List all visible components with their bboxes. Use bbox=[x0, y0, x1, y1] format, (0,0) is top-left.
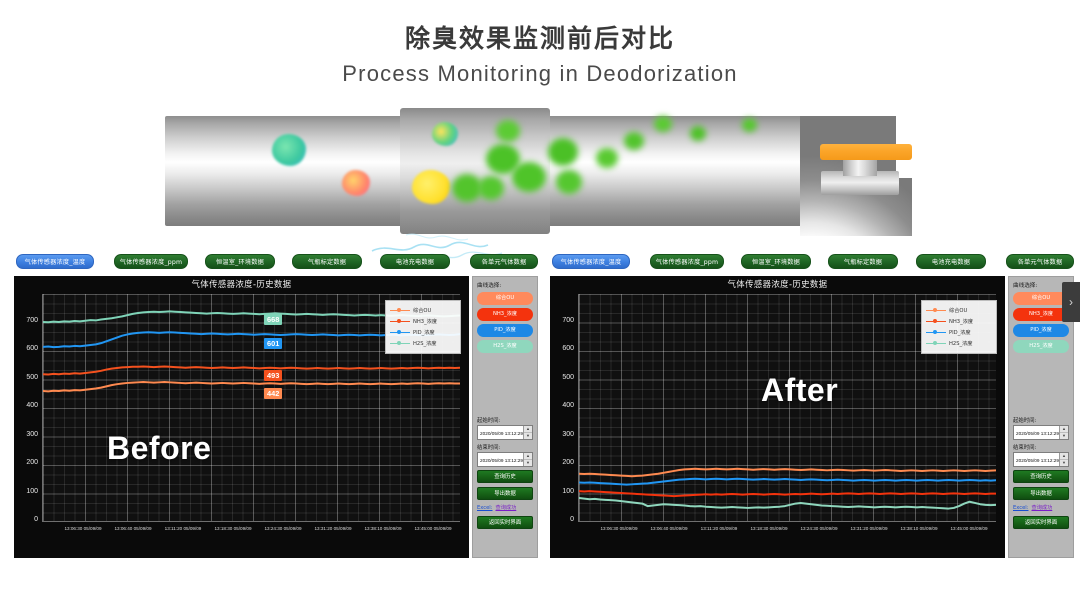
x-tick: 13:06:30 05/09/09 bbox=[56, 526, 110, 532]
legend-label: NH3_浓度 bbox=[413, 318, 437, 325]
curve-button-pid[interactable]: PID_浓度 bbox=[1013, 324, 1069, 337]
odor-blob-rainbow bbox=[432, 122, 458, 146]
tab-cylinder-calibration[interactable]: 气瓶标定数据 bbox=[292, 254, 362, 269]
end-time-label: 结束时间: bbox=[477, 443, 533, 451]
odor-blob-teal bbox=[272, 134, 306, 166]
curve-button-h2s[interactable]: H2S_浓度 bbox=[477, 340, 533, 353]
y-tick-0: 0 bbox=[550, 516, 574, 523]
series-line bbox=[43, 366, 460, 374]
sidebar-spacer bbox=[477, 356, 533, 414]
watermark-before: Before bbox=[107, 430, 211, 467]
status-link-row: Excel:查询成功 bbox=[1013, 504, 1069, 511]
x-tick: 13:45:00 05/09/09 bbox=[942, 526, 996, 532]
clean-blob-4 bbox=[512, 162, 546, 192]
y-tick-300: 300 bbox=[14, 431, 38, 438]
query-history-button[interactable]: 查询历史 bbox=[1013, 470, 1069, 483]
dashboard: 气体传感器浓度_温度 气体传感器浓度_ppm 恒温室_环境数据 气瓶标定数据 电… bbox=[0, 250, 1080, 562]
clean-blob-6 bbox=[548, 138, 578, 166]
legend-item: 综合OU bbox=[926, 305, 992, 316]
y-tick-100: 100 bbox=[550, 488, 574, 495]
tab-unit-gas-data[interactable]: 各单元气体数据 bbox=[470, 254, 538, 269]
sidebar-heading: 曲线选择: bbox=[1013, 281, 1069, 289]
x-tick: 13:06:30 05/09/09 bbox=[592, 526, 646, 532]
legend-label: NH3_浓度 bbox=[949, 318, 973, 325]
y-tick-400: 400 bbox=[14, 402, 38, 409]
tab-cylinder-calibration[interactable]: 气瓶标定数据 bbox=[828, 254, 898, 269]
start-time-stepper[interactable]: ▲ ▼ bbox=[523, 426, 532, 439]
clean-blob-10 bbox=[654, 116, 672, 132]
sidebar-heading: 曲线选择: bbox=[477, 281, 533, 289]
start-time-field[interactable]: 2020/05/09 13:12:29 ▲ ▼ bbox=[1013, 425, 1069, 440]
x-tick: 13:24:30 05/09/09 bbox=[256, 526, 310, 532]
y-tick-600: 600 bbox=[14, 345, 38, 352]
legend-label: PID_浓度 bbox=[413, 329, 435, 336]
y-tick-500: 500 bbox=[14, 374, 38, 381]
clean-blob-5 bbox=[496, 120, 520, 142]
end-time-field[interactable]: 2020/05/09 13:12:29 ▲ ▼ bbox=[477, 452, 533, 467]
stepper-up-icon[interactable]: ▲ bbox=[1060, 426, 1068, 433]
legend-swatch-h2s bbox=[390, 343, 410, 344]
chart-title-before: 气体传感器浓度-历史数据 bbox=[14, 278, 469, 290]
legend-item: PID_浓度 bbox=[926, 327, 992, 338]
x-tick: 13:06:40 05/09/09 bbox=[106, 526, 160, 532]
y-tick-100: 100 bbox=[14, 488, 38, 495]
legend-item: NH3_浓度 bbox=[926, 316, 992, 327]
stepper-up-icon[interactable]: ▲ bbox=[524, 453, 532, 460]
y-tick-700: 700 bbox=[14, 317, 38, 324]
query-status-link[interactable]: 查询成功 bbox=[496, 505, 517, 511]
tab-gas-sensor-ppm[interactable]: 气体传感器浓度_ppm bbox=[650, 254, 724, 269]
excel-link[interactable]: Excel: bbox=[1013, 505, 1029, 511]
curve-button-nh3[interactable]: NH3_浓度 bbox=[477, 308, 533, 321]
export-data-button[interactable]: 导出数据 bbox=[1013, 487, 1069, 500]
curve-button-nh3[interactable]: NH3_浓度 bbox=[1013, 308, 1069, 321]
legend-label: 综合OU bbox=[413, 307, 431, 314]
y-tick-600: 600 bbox=[550, 345, 574, 352]
start-time-value[interactable]: 2020/05/09 13:12:29 bbox=[1014, 426, 1059, 439]
clean-blob-3 bbox=[478, 176, 504, 200]
legend-swatch-nh3 bbox=[390, 321, 410, 322]
y-tick-400: 400 bbox=[550, 402, 574, 409]
panel-before: 气体传感器浓度_温度 气体传感器浓度_ppm 恒温室_环境数据 气瓶标定数据 电… bbox=[4, 250, 540, 562]
curve-button-h2s[interactable]: H2S_浓度 bbox=[1013, 340, 1069, 353]
legend-label: H2S_浓度 bbox=[413, 340, 436, 347]
start-time-stepper[interactable]: ▲ ▼ bbox=[1059, 426, 1068, 439]
series-line bbox=[579, 498, 996, 509]
sidebar-spacer bbox=[1013, 356, 1069, 414]
start-time-field[interactable]: 2020/05/09 13:12:29 ▲ ▼ bbox=[477, 425, 533, 440]
watermark-after: After bbox=[761, 372, 838, 409]
end-time-label: 结束时间: bbox=[1013, 443, 1069, 451]
x-tick: 13:11:20 05/09/09 bbox=[156, 526, 210, 532]
x-tick: 13:38:10 05/09/09 bbox=[356, 526, 410, 532]
end-time-value[interactable]: 2020/05/09 13:12:29 bbox=[1014, 453, 1059, 466]
legend-before: 综合OU NH3_浓度 PID_浓度 H2S_浓度 bbox=[385, 300, 461, 354]
data-label-nh3: 493 bbox=[264, 370, 282, 381]
y-tick-500: 500 bbox=[550, 374, 574, 381]
clean-blob-12 bbox=[742, 118, 757, 132]
series-line bbox=[579, 479, 996, 485]
excel-link[interactable]: Excel: bbox=[477, 505, 493, 511]
legend-swatch-pid bbox=[390, 332, 410, 333]
end-time-stepper[interactable]: ▲ ▼ bbox=[1059, 453, 1068, 466]
export-data-button[interactable]: 导出数据 bbox=[477, 487, 533, 500]
tabbar-after: 气体传感器浓度_温度 气体传感器浓度_ppm 恒温室_环境数据 气瓶标定数据 电… bbox=[540, 254, 1076, 272]
curve-button-ou[interactable]: 综合OU bbox=[477, 292, 533, 305]
sidebar-before: 曲线选择: 综合OU NH3_浓度 PID_浓度 H2S_浓度 起始时间: 20… bbox=[472, 276, 538, 558]
query-status-link[interactable]: 查询成功 bbox=[1032, 505, 1053, 511]
legend-label: H2S_浓度 bbox=[949, 340, 972, 347]
chart-before: 气体传感器浓度-历史数据 0 100 200 300 400 500 600 7… bbox=[14, 276, 469, 558]
clean-blob-11 bbox=[690, 126, 706, 141]
query-history-button[interactable]: 查询历史 bbox=[477, 470, 533, 483]
legend-item: 综合OU bbox=[390, 305, 456, 316]
curve-button-ou[interactable]: 综合OU bbox=[1013, 292, 1069, 305]
data-label-ou: 442 bbox=[264, 388, 282, 399]
series-line bbox=[579, 491, 996, 496]
y-tick-200: 200 bbox=[14, 459, 38, 466]
status-link-row: Excel:查询成功 bbox=[477, 504, 533, 511]
stepper-up-icon[interactable]: ▲ bbox=[524, 426, 532, 433]
page-title-cn: 除臭效果监测前后对比 bbox=[0, 22, 1080, 56]
tab-battery-charging[interactable]: 电池充电数据 bbox=[380, 254, 450, 269]
tabbar-before: 气体传感器浓度_温度 气体传感器浓度_ppm 恒温室_环境数据 气瓶标定数据 电… bbox=[4, 254, 540, 272]
legend-item: H2S_浓度 bbox=[390, 338, 456, 349]
data-label-pid: 601 bbox=[264, 338, 282, 349]
x-tick: 13:18:30 05/09/09 bbox=[206, 526, 260, 532]
x-tick: 13:31:20 05/09/09 bbox=[842, 526, 896, 532]
return-realtime-button[interactable]: 返回实时界面 bbox=[1013, 516, 1069, 529]
end-time-value[interactable]: 2020/05/09 13:12:29 bbox=[478, 453, 523, 466]
legend-swatch-h2s bbox=[926, 343, 946, 344]
odor-blob-pink bbox=[342, 170, 370, 196]
tab-gas-sensor-temp[interactable]: 气体传感器浓度_温度 bbox=[16, 254, 94, 269]
stepper-down-icon[interactable]: ▼ bbox=[524, 433, 532, 439]
x-tick: 13:45:00 05/09/09 bbox=[406, 526, 460, 532]
legend-swatch-nh3 bbox=[926, 321, 946, 322]
legend-item: NH3_浓度 bbox=[390, 316, 456, 327]
series-line bbox=[579, 469, 996, 476]
odor-blob-yellow bbox=[412, 170, 450, 204]
tab-chamber-environment[interactable]: 恒温室_环境数据 bbox=[741, 254, 811, 269]
page-title-en: Process Monitoring in Deodorization bbox=[0, 58, 1080, 90]
y-tick-300: 300 bbox=[550, 431, 574, 438]
clean-blob-9 bbox=[624, 132, 644, 150]
panel-after: 气体传感器浓度_温度 气体传感器浓度_ppm 恒温室_环境数据 气瓶标定数据 电… bbox=[540, 250, 1076, 562]
stepper-down-icon[interactable]: ▼ bbox=[524, 460, 532, 466]
legend-label: 综合OU bbox=[949, 307, 967, 314]
end-time-stepper[interactable]: ▲ ▼ bbox=[523, 453, 532, 466]
stepper-down-icon[interactable]: ▼ bbox=[1060, 433, 1068, 439]
pipe-illustration bbox=[0, 104, 1080, 239]
app-root: 除臭效果监测前后对比 Process Monitoring in Deodori… bbox=[0, 0, 1080, 604]
chart-title-after: 气体传感器浓度-历史数据 bbox=[550, 278, 1005, 290]
data-label-h2s: 668 bbox=[264, 314, 282, 325]
legend-swatch-pid bbox=[926, 332, 946, 333]
valve-handle[interactable] bbox=[820, 144, 912, 160]
chart-after: 气体传感器浓度-历史数据 0 100 200 300 400 500 600 7… bbox=[550, 276, 1005, 558]
curve-button-pid[interactable]: PID_浓度 bbox=[477, 324, 533, 337]
y-tick-700: 700 bbox=[550, 317, 574, 324]
legend-label: PID_浓度 bbox=[949, 329, 971, 336]
start-time-label: 起始时间: bbox=[1013, 416, 1069, 424]
y-tick-200: 200 bbox=[550, 459, 574, 466]
clean-blob-7 bbox=[556, 170, 582, 194]
start-time-value[interactable]: 2020/05/09 13:12:29 bbox=[478, 426, 523, 439]
next-slide-button[interactable]: › bbox=[1062, 282, 1080, 322]
tab-battery-charging[interactable]: 电池充电数据 bbox=[916, 254, 986, 269]
legend-after: 综合OU NH3_浓度 PID_浓度 H2S_浓度 bbox=[921, 300, 997, 354]
legend-item: PID_浓度 bbox=[390, 327, 456, 338]
tab-unit-gas-data[interactable]: 各单元气体数据 bbox=[1006, 254, 1074, 269]
tab-gas-sensor-temp[interactable]: 气体传感器浓度_温度 bbox=[552, 254, 630, 269]
legend-swatch-ou bbox=[926, 310, 946, 311]
tab-gas-sensor-ppm[interactable]: 气体传感器浓度_ppm bbox=[114, 254, 188, 269]
legend-item: H2S_浓度 bbox=[926, 338, 992, 349]
x-tick: 13:18:30 05/09/09 bbox=[742, 526, 796, 532]
x-tick: 13:38:10 05/09/09 bbox=[892, 526, 946, 532]
start-time-label: 起始时间: bbox=[477, 416, 533, 424]
tab-chamber-environment[interactable]: 恒温室_环境数据 bbox=[205, 254, 275, 269]
page-header: 除臭效果监测前后对比 Process Monitoring in Deodori… bbox=[0, 22, 1080, 90]
return-realtime-button[interactable]: 返回实时界面 bbox=[477, 516, 533, 529]
x-tick: 13:06:40 05/09/09 bbox=[642, 526, 696, 532]
stepper-down-icon[interactable]: ▼ bbox=[1060, 460, 1068, 466]
end-time-field[interactable]: 2020/05/09 13:12:29 ▲ ▼ bbox=[1013, 452, 1069, 467]
stepper-up-icon[interactable]: ▲ bbox=[1060, 453, 1068, 460]
y-tick-0: 0 bbox=[14, 516, 38, 523]
series-line bbox=[43, 382, 460, 391]
x-tick: 13:24:30 05/09/09 bbox=[792, 526, 846, 532]
legend-swatch-ou bbox=[390, 310, 410, 311]
clean-blob-8 bbox=[596, 148, 618, 168]
x-tick: 13:11:20 05/09/09 bbox=[692, 526, 746, 532]
x-tick: 13:31:20 05/09/09 bbox=[306, 526, 360, 532]
